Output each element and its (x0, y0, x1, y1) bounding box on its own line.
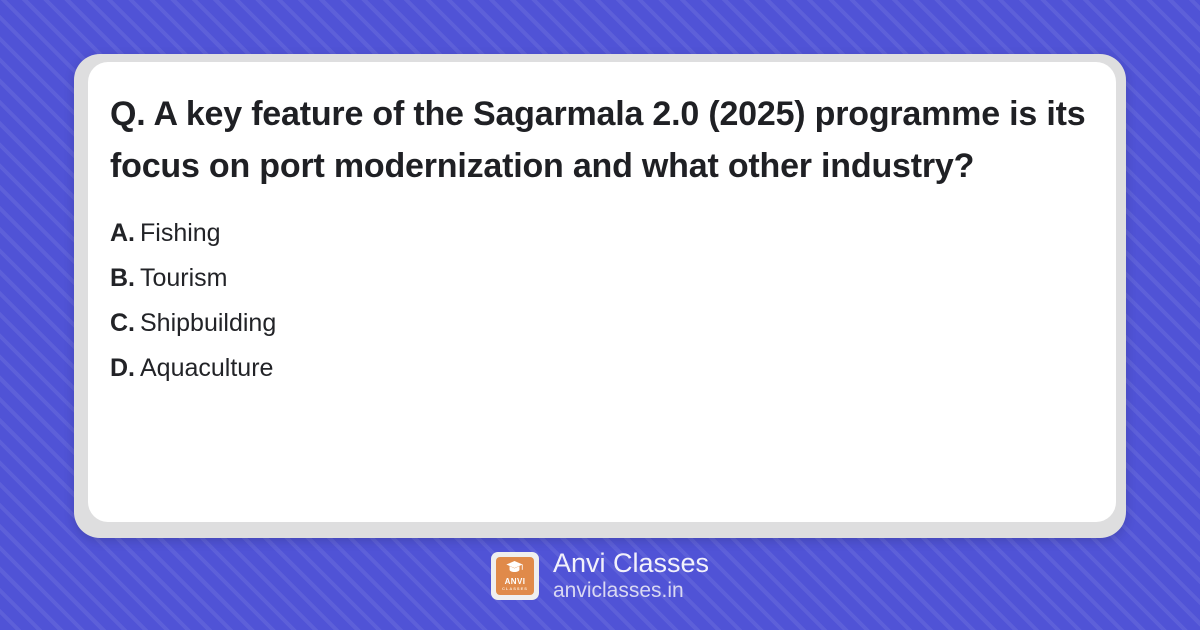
option-c-label: Shipbuilding (140, 309, 276, 337)
brand-logo-secondary-text: CLASSES (502, 587, 528, 591)
question-card: Q. A key feature of the Sagarmala 2.0 (2… (88, 62, 1116, 522)
brand-logo: ANVI CLASSES (491, 552, 539, 600)
question-text: Q. A key feature of the Sagarmala 2.0 (2… (110, 88, 1090, 192)
brand-name: Anvi Classes (553, 548, 709, 578)
option-b[interactable]: B.Tourism (110, 256, 1102, 301)
option-a-label: Fishing (140, 219, 221, 247)
brand-logo-primary-text: ANVI (505, 578, 526, 586)
option-d-label: Aquaculture (140, 354, 273, 382)
option-b-letter: B. (110, 264, 135, 292)
question-card-content: Q. A key feature of the Sagarmala 2.0 (2… (110, 88, 1102, 391)
option-c-letter: C. (110, 309, 135, 337)
option-b-label: Tourism (140, 264, 228, 292)
option-a-letter: A. (110, 219, 135, 247)
option-d[interactable]: D.Aquaculture (110, 346, 1102, 391)
brand-logo-tile: ANVI CLASSES (496, 557, 534, 595)
option-d-letter: D. (110, 354, 135, 382)
graduation-cap-icon (506, 561, 523, 577)
brand-footer: ANVI CLASSES Anvi Classes anviclasses.in (0, 548, 1200, 604)
option-a[interactable]: A.Fishing (110, 211, 1102, 256)
brand-url: anviclasses.in (553, 578, 709, 604)
brand-text-block: Anvi Classes anviclasses.in (553, 548, 709, 604)
options-list: A.Fishing B.Tourism C.Shipbuilding D.Aqu… (110, 211, 1102, 391)
option-c[interactable]: C.Shipbuilding (110, 301, 1102, 346)
slide-canvas: Q. A key feature of the Sagarmala 2.0 (2… (0, 0, 1200, 630)
